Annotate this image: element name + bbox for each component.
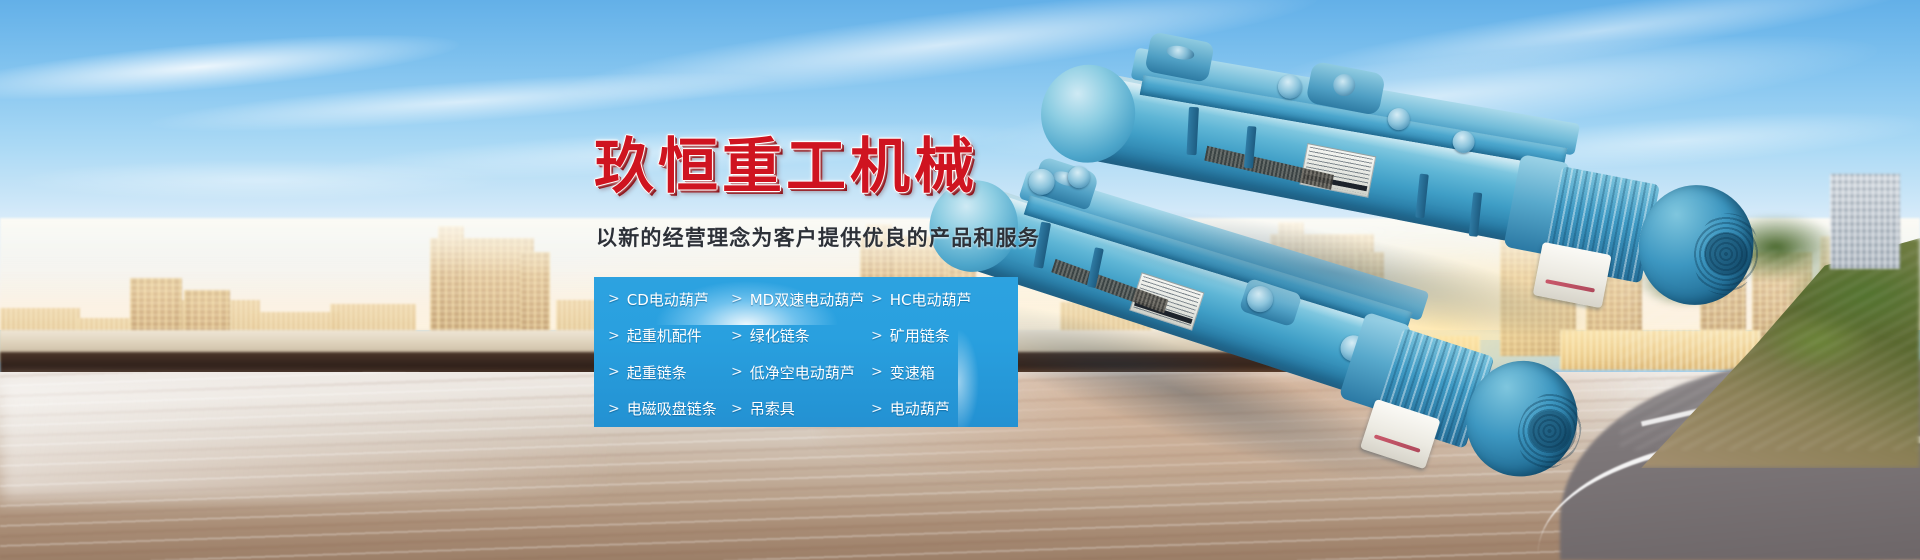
page-title: 玖恒重工机械 [594, 118, 978, 205]
page-subtitle: 以新的经营理念为客户提供优良的产品和服务 [596, 222, 1040, 252]
product-link[interactable]: >低净空电动葫芦 [731, 362, 871, 383]
product-link-label: 起重机配件 [627, 325, 702, 346]
product-link[interactable]: >变速箱 [871, 362, 1018, 383]
product-links-panel: >CD电动葫芦>MD双速电动葫芦>HC电动葫芦>起重机配件>绿化链条>矿用链条>… [594, 277, 1018, 427]
product-link-label: 低净空电动葫芦 [750, 362, 855, 383]
product-link[interactable]: >电动葫芦 [871, 398, 1018, 419]
product-link[interactable]: >CD电动葫芦 [608, 289, 731, 310]
chevron-right-icon: > [608, 329, 620, 343]
product-link-label: MD双速电动葫芦 [750, 289, 865, 310]
product-link[interactable]: >吊索具 [731, 398, 871, 419]
chevron-right-icon: > [731, 292, 743, 306]
product-link[interactable]: >绿化链条 [731, 325, 871, 346]
background-building [1830, 174, 1900, 269]
product-links-grid: >CD电动葫芦>MD双速电动葫芦>HC电动葫芦>起重机配件>绿化链条>矿用链条>… [594, 277, 1018, 427]
product-link[interactable]: >起重链条 [608, 362, 731, 383]
chevron-right-icon: > [871, 292, 883, 306]
chevron-right-icon: > [608, 365, 620, 379]
product-link-label: 变速箱 [890, 362, 935, 383]
product-link-label: 吊索具 [750, 398, 795, 419]
chevron-right-icon: > [731, 329, 743, 343]
product-link-label: 绿化链条 [750, 325, 810, 346]
product-link[interactable]: >电磁吸盘链条 [608, 398, 731, 419]
product-link-label: 起重链条 [627, 362, 687, 383]
product-link-label: CD电动葫芦 [627, 289, 709, 310]
chevron-right-icon: > [871, 365, 883, 379]
chevron-right-icon: > [731, 402, 743, 416]
product-link-label: 电动葫芦 [890, 398, 950, 419]
chevron-right-icon: > [731, 365, 743, 379]
product-link-label: 电磁吸盘链条 [627, 398, 717, 419]
chevron-right-icon: > [608, 292, 620, 306]
chevron-right-icon: > [871, 329, 883, 343]
product-link[interactable]: >矿用链条 [871, 325, 1018, 346]
product-link-label: 矿用链条 [890, 325, 950, 346]
promotional-banner: 玖恒重工机械 以新的经营理念为客户提供优良的产品和服务 >CD电动葫芦>MD双速… [0, 0, 1920, 560]
chevron-right-icon: > [871, 402, 883, 416]
product-link[interactable]: >起重机配件 [608, 325, 731, 346]
product-link[interactable]: >HC电动葫芦 [871, 289, 1018, 310]
chevron-right-icon: > [608, 402, 620, 416]
product-link-label: HC电动葫芦 [890, 289, 972, 310]
product-link[interactable]: >MD双速电动葫芦 [731, 289, 871, 310]
